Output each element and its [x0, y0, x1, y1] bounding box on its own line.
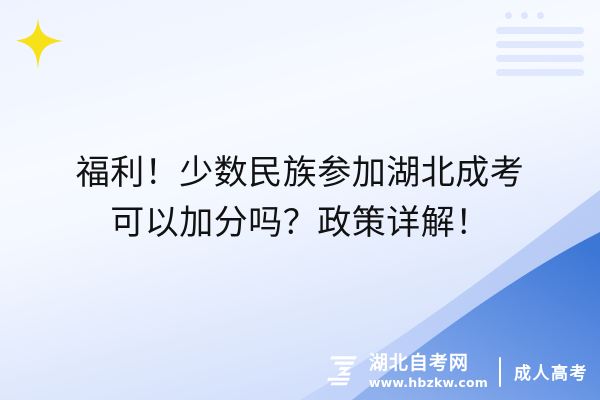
doc-bar — [496, 55, 584, 62]
headline: 福利！少数民族参加湖北成考 可以加分吗？政策详解！ — [0, 148, 600, 248]
doc-bar — [496, 27, 584, 34]
brand-url: www.hbzkw.com — [369, 377, 488, 390]
brand-divider — [499, 357, 501, 387]
doc-dot — [505, 12, 512, 19]
document-lines-icon — [496, 12, 584, 83]
brand-lockup: 湖北自考网 www.hbzkw.com 成人高考 — [324, 351, 588, 392]
doc-bar — [496, 41, 584, 48]
hbzkw-z-logo-icon — [324, 351, 360, 392]
promo-banner: 福利！少数民族参加湖北成考 可以加分吗？政策详解！ 湖北自考网 www.hbzk… — [0, 0, 600, 400]
brand-text: 湖北自考网 www.hbzkw.com — [369, 354, 488, 390]
headline-line-1: 福利！少数民族参加湖北成考 — [0, 148, 600, 198]
doc-dot — [521, 12, 528, 19]
doc-dots — [496, 12, 584, 19]
headline-line-2: 可以加分吗？政策详解！ — [0, 198, 600, 248]
brand-name: 湖北自考网 — [369, 354, 488, 373]
doc-bar — [496, 69, 584, 76]
sparkle-star-icon — [16, 18, 64, 70]
doc-bars — [496, 27, 584, 76]
brand-tag: 成人高考 — [514, 359, 588, 384]
doc-dot — [537, 12, 544, 19]
